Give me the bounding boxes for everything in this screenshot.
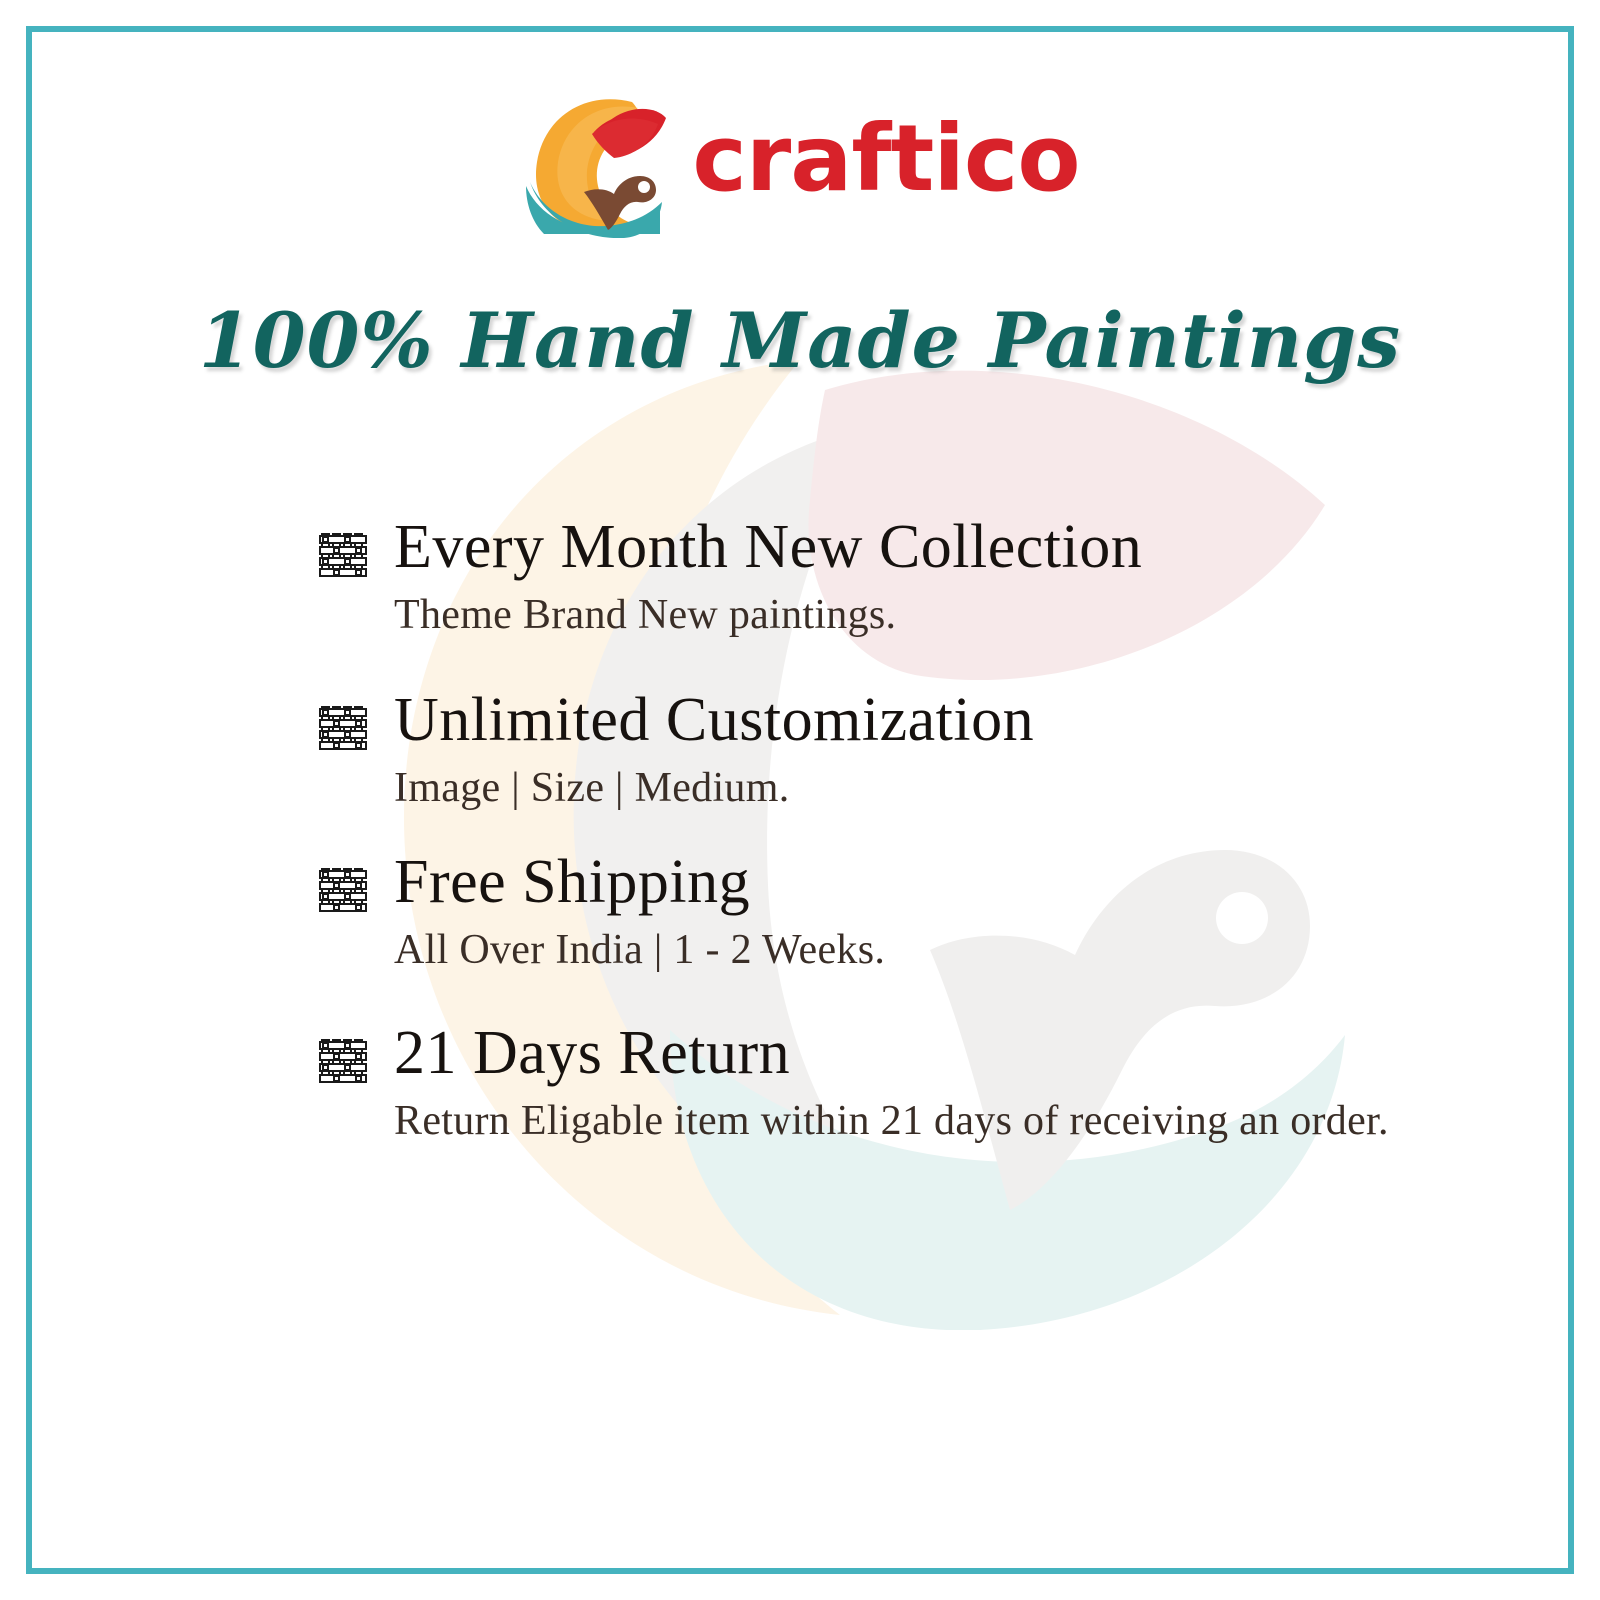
feature-list: Every Month New Collection Theme Brand N… bbox=[318, 515, 1468, 1149]
brand-logo: craftico bbox=[0, 88, 1600, 238]
feature-text: Unlimited Customization Image | Size | M… bbox=[394, 688, 1468, 815]
feature-subtitle: Theme Brand New paintings. bbox=[394, 589, 1468, 643]
woven-mesh-icon bbox=[318, 1037, 368, 1085]
list-item: Unlimited Customization Image | Size | M… bbox=[318, 688, 1468, 815]
feature-title: Free Shipping bbox=[394, 850, 1468, 916]
craftico-c-paintbrush-logo-icon bbox=[520, 88, 666, 238]
brand-wordmark: craftico bbox=[692, 113, 1079, 213]
page-title: 100% Hand Made Paintings bbox=[0, 296, 1600, 385]
list-item: Every Month New Collection Theme Brand N… bbox=[318, 515, 1468, 642]
list-item: 21 Days Return Return Eligable item with… bbox=[318, 1021, 1468, 1148]
feature-text: Every Month New Collection Theme Brand N… bbox=[394, 515, 1468, 642]
woven-mesh-icon bbox=[318, 531, 368, 579]
promo-poster: craftico 100% Hand Made Paintings bbox=[0, 0, 1600, 1600]
feature-title: Unlimited Customization bbox=[394, 688, 1468, 754]
list-item: Free Shipping All Over India | 1 - 2 Wee… bbox=[318, 850, 1468, 977]
feature-text: Free Shipping All Over India | 1 - 2 Wee… bbox=[394, 850, 1468, 977]
feature-subtitle: Return Eligable item within 21 days of r… bbox=[394, 1095, 1468, 1149]
woven-mesh-icon bbox=[318, 704, 368, 752]
feature-title: 21 Days Return bbox=[394, 1021, 1468, 1087]
woven-mesh-icon bbox=[318, 866, 368, 914]
feature-title: Every Month New Collection bbox=[394, 515, 1468, 581]
feature-subtitle: Image | Size | Medium. bbox=[394, 762, 1468, 816]
feature-text: 21 Days Return Return Eligable item with… bbox=[394, 1021, 1468, 1148]
feature-subtitle: All Over India | 1 - 2 Weeks. bbox=[394, 924, 1468, 978]
